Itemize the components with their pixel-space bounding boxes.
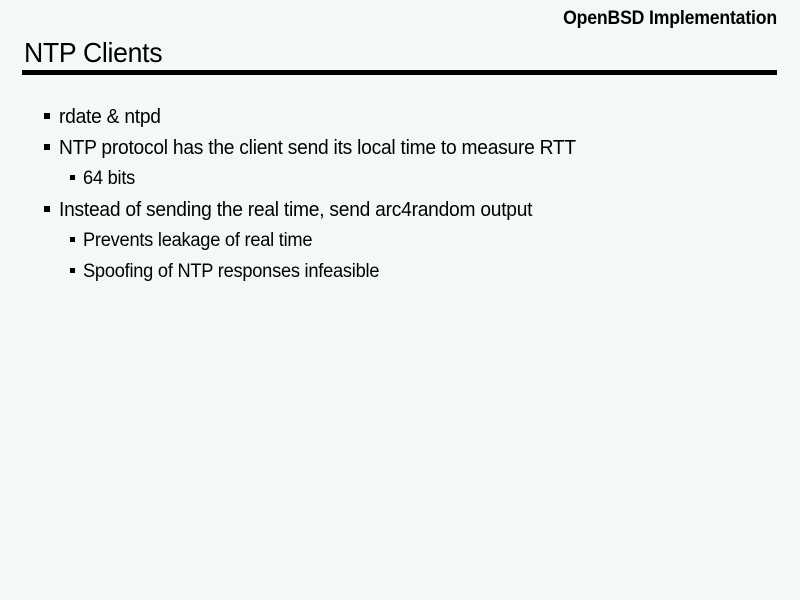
bullet-item: 64 bits [70, 166, 800, 197]
bullet-square-icon [44, 144, 50, 150]
bullet-square-icon [70, 175, 75, 180]
bullet-item: Prevents leakage of real time [70, 228, 800, 259]
bullet-text: rdate & ntpd [59, 104, 161, 131]
bullet-text: NTP protocol has the client send its loc… [59, 135, 576, 162]
slide-header: OpenBSD Implementation [22, 6, 777, 34]
bullet-item: rdate & ntpd [44, 104, 800, 135]
bullet-square-icon [44, 206, 50, 212]
presentation-slide: OpenBSD Implementation NTP Clients rdate… [0, 0, 800, 600]
bullet-text: Instead of sending the real time, send a… [59, 197, 532, 224]
bullet-square-icon [70, 237, 75, 242]
bullet-square-icon [44, 113, 50, 119]
bullet-item: Instead of sending the real time, send a… [44, 197, 800, 228]
bullet-text: 64 bits [83, 166, 135, 192]
page-title: NTP Clients [24, 36, 162, 70]
bullet-item: NTP protocol has the client send its loc… [44, 135, 800, 166]
bullet-item: Spoofing of NTP responses infeasible [70, 259, 800, 290]
slide-header-text: OpenBSD Implementation [563, 6, 777, 32]
bullet-text: Prevents leakage of real time [83, 228, 312, 254]
title-divider [22, 70, 777, 75]
bullet-text: Spoofing of NTP responses infeasible [83, 259, 379, 285]
bullet-square-icon [70, 268, 75, 273]
slide-body: rdate & ntpdNTP protocol has the client … [0, 104, 800, 290]
